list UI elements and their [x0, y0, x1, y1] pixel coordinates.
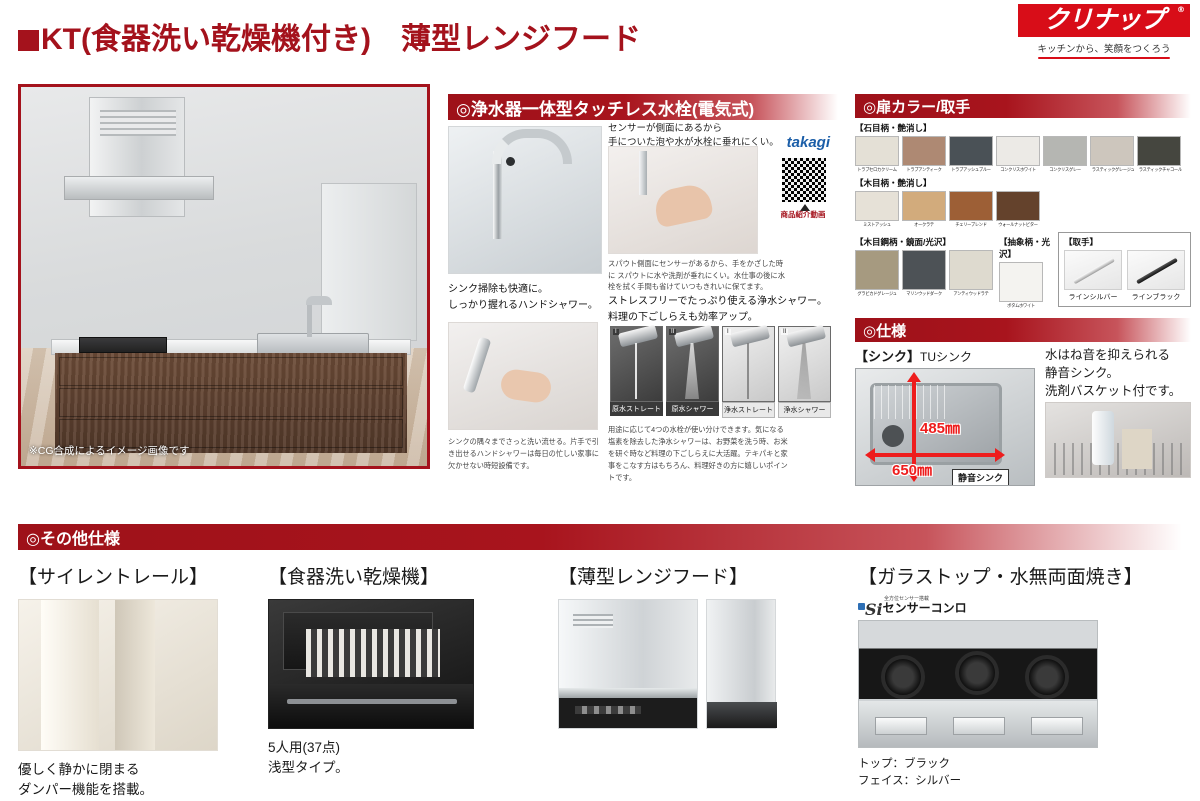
registered-trademark-icon: ® [1177, 6, 1184, 14]
sink-drain-icon [882, 425, 904, 447]
swatch-label: ミストアッシュ [857, 222, 897, 228]
brand-logo-mark: クリナップ ® [1018, 4, 1190, 37]
faucet-sensor-icon [506, 157, 515, 166]
abstract-gloss-title: 【抽象柄・光沢】 [999, 236, 1052, 260]
faucet-section: ◎浄水器一体型タッチレス水栓(電気式) センサーが側面にあるから 手についた泡や… [448, 94, 838, 470]
wood-swatch-row: ミストアッシュ オークラテ チェリーブレンド ウォールナットビター [855, 191, 1191, 228]
cabinet-drawer [59, 388, 403, 417]
cooktop-button [875, 717, 927, 735]
swatch-label: グラビカドグレージュ [857, 291, 897, 297]
range-hood-side-image [706, 599, 776, 729]
shower-mode-label: 原水ストレート [610, 402, 663, 416]
purified-shower-heading: ストレスフリーでたっぷり使える浄水シャワー。 料理の下ごしらえも効率アップ。 [608, 294, 827, 325]
wood-pattern-group-title: 【木目柄・艶消し】 [855, 177, 1191, 189]
silent-rail-title: 【サイレントレール】 [18, 562, 268, 589]
other-spec-header: ◎その他仕様 [18, 524, 1182, 550]
swatch-label: トラブアッシュブルー [951, 167, 991, 173]
color-swatch[interactable]: ウォールナットビター [996, 191, 1040, 228]
hand-shower-image [448, 322, 598, 430]
qr-code-icon[interactable] [780, 156, 828, 204]
sink-depth-label: 485㎜ [920, 417, 960, 438]
shower-mode-item: I 原水ストレート [610, 326, 663, 418]
dish-plates-icon [306, 629, 440, 677]
faucet-spout [493, 151, 502, 239]
shower-mode-image: II [778, 326, 831, 402]
swatch-chip [949, 191, 993, 221]
cooktop-button [953, 717, 1005, 735]
faucet-main-image [448, 126, 602, 274]
shower-mode-badge: I [725, 329, 731, 335]
sink-image: 485㎜ 650㎜ 静音シンク [855, 368, 1035, 486]
dishwasher-title: 【食器洗い乾燥機】 [268, 562, 558, 589]
mirror-swatch-row: グラビカドグレージュ マリンウッドダーク アンティウッドラテ [855, 250, 993, 297]
door-color-section: ◎扉カラー/取手 【石目柄・艶消し】 トラブセロカクリーム トラブアンティーク … [855, 94, 1191, 309]
handle-label: ラインシルバー [1064, 292, 1122, 302]
nozzle-icon [618, 325, 658, 348]
dishwasher-front-panel [269, 684, 474, 728]
swatch-label: トラブアンティーク [904, 167, 944, 173]
dishwasher-image [268, 599, 474, 729]
door-color-header: ◎扉カラー/取手 [855, 94, 1191, 118]
other-spec-grid: 【サイレントレール】 優しく静かに閉まる ダンパー機能を搭載。 【食器洗い乾燥機… [18, 562, 1182, 801]
hand-icon [652, 182, 714, 229]
shower-mode-item: II 原水シャワー [666, 326, 719, 418]
swatch-label: コンクリスホワイト [998, 167, 1038, 173]
swatch-chip [999, 262, 1043, 302]
purified-shower-note: 用途に応じて4つの水栓が使い分けできます。気になる塩素を除去した浄水シャワーは、… [608, 424, 790, 483]
brand-logo-text: クリナップ [1044, 5, 1164, 34]
cabinet-drawer [59, 357, 403, 386]
other-spec-section: ◎その他仕様 【サイレントレール】 優しく静かに閉まる ダンパー機能を搭載。 【… [18, 524, 1182, 801]
color-swatch[interactable]: コンクリスホワイト [996, 136, 1040, 173]
dishwasher-handle [287, 699, 457, 704]
handle-label: ラインブラック [1127, 292, 1185, 302]
swatch-chip [1043, 136, 1087, 166]
handle-chip-black [1127, 250, 1185, 290]
swatch-label: ラスティックグレージュ [1092, 167, 1132, 173]
color-swatch[interactable]: ラスティックチャコール [1137, 136, 1181, 173]
cooktop-title: 【ガラストップ・水無両面焼き】 [858, 562, 1178, 589]
handle-option[interactable]: ラインブラック [1127, 250, 1185, 302]
nozzle-icon [786, 325, 826, 348]
sink-width-arrow [874, 453, 996, 457]
si-blue-dot-icon [858, 603, 865, 610]
hood-slats [100, 110, 176, 136]
handle-group: 【取手】 ラインシルバー ラインブラック [1058, 232, 1191, 307]
color-swatch[interactable]: グラビカドグレージュ [855, 250, 899, 297]
shower-mode-grid: I 原水ストレート II 原水シャワー I 浄水ストレート II [610, 326, 834, 418]
swatch-label: ボタムホワイト [1001, 303, 1041, 309]
cooktop-control-panel [859, 701, 1098, 747]
color-swatch[interactable]: ミストアッシュ [855, 191, 899, 228]
sink-width-label: 650㎜ [892, 459, 932, 480]
burner-icon [881, 655, 925, 699]
si-sensor-label: センサーコンロ [883, 601, 967, 615]
dishwasher-tray [283, 612, 433, 670]
swatch-chip [855, 250, 899, 290]
shower-mode-badge: II [669, 329, 676, 335]
range-hood-title: 【薄型レンジフード】 [558, 562, 858, 589]
swatch-label: コンクリスグレー [1045, 167, 1085, 173]
silent-rail-caption: 優しく静かに閉まる ダンパー機能を搭載。 [18, 760, 268, 801]
shower-mode-label: 浄水シャワー [778, 402, 831, 418]
hood-lip [559, 688, 698, 698]
spec-section: ◎仕様 【シンク】TUシンク 485㎜ 650㎜ 静音シンク 水はね音を抑えられ… [855, 318, 1191, 486]
swatch-chip [1137, 136, 1181, 166]
hand-icon [499, 368, 553, 405]
cooktop-image [858, 620, 1098, 748]
other-spec-item-cooktop: 【ガラストップ・水無両面焼き】 Siセンサーコンロ 全方位センサー搭載 トップ：… [858, 562, 1178, 801]
hand-shower-heading: シンク掃除も快適に。 しっかり握れるハンドシャワー。 [448, 282, 598, 313]
sink-description: 水はね音を抑えられる 静音シンク。 洗剤バスケット付です。 [1045, 346, 1191, 400]
logo-underline [1038, 57, 1170, 59]
stone-swatch-row: トラブセロカクリーム トラブアンティーク トラブアッシュブルー コンクリスホワイ… [855, 136, 1191, 173]
swatch-chip [855, 136, 899, 166]
door-bottom-groups: 【木目鋼柄・鏡面/光沢】 グラビカドグレージュ マリンウッドダーク アンティウッ… [855, 232, 1191, 309]
swatch-chip [902, 136, 946, 166]
handle-option[interactable]: ラインシルバー [1064, 250, 1122, 302]
shower-mode-item: II 浄水シャワー [778, 326, 831, 418]
kitchen-tall-cabinet [321, 183, 417, 341]
faucet-section-header: ◎浄水器一体型タッチレス水栓(電気式) [448, 94, 838, 120]
cg-disclaimer: ※CG合成によるイメージ画像です [29, 443, 190, 458]
shower-mode-image: I [610, 326, 663, 402]
sponge-icon [1122, 429, 1152, 469]
mirror-gloss-title: 【木目鋼柄・鏡面/光沢】 [855, 236, 993, 248]
swatch-label: マリンウッドダーク [904, 291, 944, 297]
nozzle-icon [730, 325, 770, 348]
si-tiny-text: 全方位センサー搭載 [884, 595, 929, 602]
page-title-text: KT(食器洗い乾燥機付き) 薄型レンジフード [41, 23, 641, 56]
color-swatch[interactable]: コンクリスグレー [1043, 136, 1087, 173]
hand-shower-note: シンクの隅々までさっと洗い流せる。片手で引き出せるハンドシャワーは毎日の忙しい家… [448, 436, 600, 472]
detergent-basket-image [1045, 402, 1191, 478]
color-swatch[interactable]: アンティウッドラテ [949, 250, 993, 297]
color-swatch[interactable]: オークラテ [902, 191, 946, 228]
swatch-label: チェリーブレンド [951, 222, 991, 228]
sink-rack [874, 385, 948, 419]
brand-tagline: キッチンから、笑顔をつくろう [1018, 41, 1190, 55]
swatch-chip [902, 191, 946, 221]
burner-icon [955, 651, 999, 695]
water-jet-wide [797, 343, 811, 399]
water-jet-straight [747, 343, 749, 399]
sink-name: TUシンク [920, 350, 972, 364]
swatch-chip [1090, 136, 1134, 166]
other-spec-item-dishwasher: 【食器洗い乾燥機】 5人用(37点) 浅型タイプ。 [268, 562, 558, 801]
range-hood-images [558, 599, 858, 729]
kitchen-cooktop [79, 337, 167, 353]
other-spec-item-silent-rail: 【サイレントレール】 優しく静かに閉まる ダンパー機能を搭載。 [18, 562, 268, 801]
swatch-chip [996, 136, 1040, 166]
kitchen-faucet-icon [307, 303, 312, 337]
nozzle-icon [674, 325, 714, 348]
swatch-chip [949, 250, 993, 290]
swatch-label: ウォールナットビター [998, 222, 1038, 228]
brand-logo: クリナップ ® キッチンから、笑顔をつくろう [1018, 4, 1190, 59]
kitchen-image: ※CG合成によるイメージ画像です [18, 84, 430, 469]
shower-mode-image: II [666, 326, 719, 402]
silent-rail-image [18, 599, 218, 751]
water-jet-wide [685, 343, 699, 399]
shower-mode-image: I [722, 326, 775, 402]
swatch-label: トラブセロカクリーム [857, 167, 897, 173]
abstract-swatch-row: ボタムホワイト [999, 262, 1052, 309]
handle-bar-icon [1136, 258, 1178, 284]
handle-row: ラインシルバー ラインブラック [1064, 250, 1185, 302]
color-swatch[interactable]: ボタムホワイト [999, 262, 1043, 309]
title-square-bullet [18, 30, 39, 51]
shower-mode-badge: I [613, 329, 619, 335]
handle-chip-silver [1064, 250, 1122, 290]
stone-pattern-group-title: 【石目柄・艶消し】 [855, 122, 1191, 134]
color-swatch[interactable]: ラスティックグレージュ [1090, 136, 1134, 173]
water-jet-straight [635, 343, 637, 399]
page-title: KT(食器洗い乾燥機付き) 薄型レンジフード [18, 14, 641, 58]
mirror-gloss-group: 【木目鋼柄・鏡面/光沢】 グラビカドグレージュ マリンウッドダーク アンティウッ… [855, 232, 993, 297]
hood-lights-icon [575, 706, 641, 714]
shower-wand [463, 337, 492, 394]
range-hood-icon [89, 97, 185, 217]
shower-mode-badge: II [781, 329, 788, 335]
swatch-chip [902, 250, 946, 290]
faucet-spout-small [639, 151, 647, 195]
handle-bar-icon [1073, 258, 1115, 284]
color-swatch[interactable]: マリンウッドダーク [902, 250, 946, 297]
swatch-label: オークラテ [904, 222, 944, 228]
cooktop-button [1031, 717, 1083, 735]
si-sensor-logo: Siセンサーコンロ 全方位センサー搭載 [858, 599, 1178, 617]
color-swatch[interactable]: チェリーブレンド [949, 191, 993, 228]
qr-caption: 商品紹介動画 [772, 210, 834, 220]
faucet-hand-demo-image [608, 146, 758, 254]
swatch-chip [996, 191, 1040, 221]
swatch-label: アンティウッドラテ [951, 291, 991, 297]
abstract-gloss-group: 【抽象柄・光沢】 ボタムホワイト [999, 232, 1052, 309]
cooktop-caption: トップ：ブラック フェイス：シルバー [858, 756, 1178, 791]
shower-mode-label: 原水シャワー [666, 402, 719, 416]
spec-section-header: ◎仕様 [855, 318, 1191, 342]
shower-mode-item: I 浄水ストレート [722, 326, 775, 418]
hood-grille-icon [573, 614, 613, 628]
other-spec-item-range-hood: 【薄型レンジフード】 [558, 562, 858, 801]
shower-mode-label: 浄水ストレート [722, 402, 775, 418]
quiet-sink-badge: 静音シンク [952, 469, 1009, 486]
swatch-chip [855, 191, 899, 221]
kitchen-sink [257, 333, 369, 355]
color-swatch[interactable]: トラブアッシュブルー [949, 136, 993, 173]
color-swatch[interactable]: トラブセロカクリーム [855, 136, 899, 173]
burner-icon [1025, 655, 1069, 699]
detergent-bottle-icon [1092, 411, 1114, 465]
sink-title-bracket: 【シンク】 [855, 349, 920, 364]
handle-group-title: 【取手】 [1064, 236, 1185, 248]
range-hood-front-image [558, 599, 698, 729]
dishwasher-caption: 5人用(37点) 浅型タイプ。 [268, 738, 558, 779]
basket-rack [1054, 443, 1182, 475]
kitchen-cabinet [55, 353, 407, 453]
si-mark: Si [865, 600, 883, 619]
takagi-brand-logo: takagi [787, 134, 830, 151]
faucet-sensor-description: スパウト側面にセンサーがあるから、手をかざした時に スパウトに水や洗剤が垂れにく… [608, 258, 788, 293]
swatch-chip [949, 136, 993, 166]
swatch-label: ラスティックチャコール [1139, 167, 1179, 173]
color-swatch[interactable]: トラブアンティーク [902, 136, 946, 173]
